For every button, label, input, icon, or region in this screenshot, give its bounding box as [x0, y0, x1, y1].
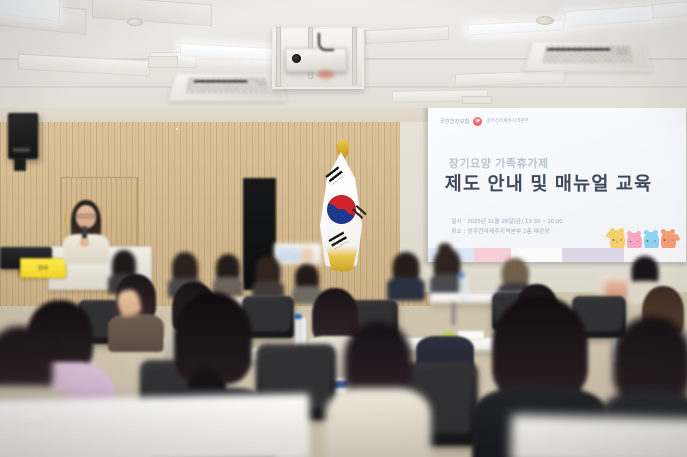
projector-frame-leg-right	[352, 27, 357, 85]
ceiling-speaker-icon	[536, 16, 554, 25]
slide-logo-group: 국민건강보험 광주전라제주지역본부	[440, 117, 529, 126]
torso	[108, 314, 164, 352]
mascot-face	[613, 239, 622, 243]
projector-frame-leg-left	[276, 27, 281, 87]
slide-meta-block: 일시 : 2025년 11월 28일(금) 13:30 ~ 16:00 장소 :…	[451, 217, 563, 238]
ac-louver	[547, 48, 611, 51]
yellow-info-sign: 안내	[20, 258, 66, 278]
mascot-face	[647, 240, 656, 244]
projection-screen: 국민건강보험 광주전라제주지역본부 장기요양 가족휴가제 제도 안내 및 매뉴얼…	[428, 104, 686, 262]
ceiling-ac-unit-left	[168, 73, 286, 101]
ceiling-vent-2	[462, 96, 492, 104]
mascot-face	[664, 239, 673, 243]
wall-speaker	[8, 113, 38, 159]
torso	[325, 388, 431, 457]
ac-sensor	[617, 49, 628, 54]
ceiling-light-panel-4	[652, 0, 687, 19]
band-seg-4	[562, 248, 624, 262]
mascot-face	[630, 241, 639, 245]
audience-member-front-mid-right	[330, 322, 426, 457]
speaker-bracket	[14, 157, 26, 171]
handout-item	[302, 248, 312, 261]
conference-room-photo: 국민건강보험 광주전라제주지역본부 장기요양 가족휴가제 제도 안내 및 매뉴얼…	[0, 0, 687, 457]
audience-member-mid	[418, 290, 472, 372]
hair	[492, 296, 588, 400]
projector-cable	[318, 33, 334, 51]
projector-lens-icon	[292, 54, 301, 63]
presenter	[58, 198, 114, 260]
presenter-hand	[80, 238, 89, 247]
presenter-glasses-icon	[78, 214, 95, 218]
wall-marker-dot	[176, 128, 178, 130]
hair-bun	[438, 243, 452, 254]
foreground-table	[0, 394, 311, 457]
slide-title: 제도 안내 및 매뉴얼 교육	[445, 170, 653, 196]
heart-logo-icon	[473, 117, 482, 126]
ceiling-speaker-icon-2	[127, 18, 143, 26]
ac-louver	[194, 80, 248, 82]
ceiling-ac-unit-right	[524, 41, 653, 71]
bottle-cap-icon	[295, 314, 302, 319]
hair	[424, 290, 466, 342]
taeguk-lobe-red	[334, 195, 349, 210]
slide-meta-datetime: 일시 : 2025년 11월 28일(금) 13:30 ~ 16:00	[451, 217, 563, 227]
slide-logo-org: 국민건강보험	[440, 118, 470, 125]
slide-logo-branch: 광주전라제주지역본부	[486, 118, 528, 124]
hair	[344, 322, 412, 398]
handout-item	[290, 248, 300, 261]
bottle-cap-icon	[458, 273, 464, 277]
flagpole-finial-icon	[337, 139, 349, 157]
ceiling-vent	[148, 56, 178, 68]
yellow-sign-text: 안내	[38, 265, 48, 272]
ceiling-red-marker	[318, 70, 334, 79]
taeguk-lobe-blue	[334, 209, 349, 224]
hair	[613, 316, 687, 402]
ac-sensor	[256, 81, 266, 85]
slide-meta-location: 장소 : 광주전라제주지역본부 1층 대강당	[451, 227, 563, 237]
foreground-table-right	[510, 415, 687, 457]
